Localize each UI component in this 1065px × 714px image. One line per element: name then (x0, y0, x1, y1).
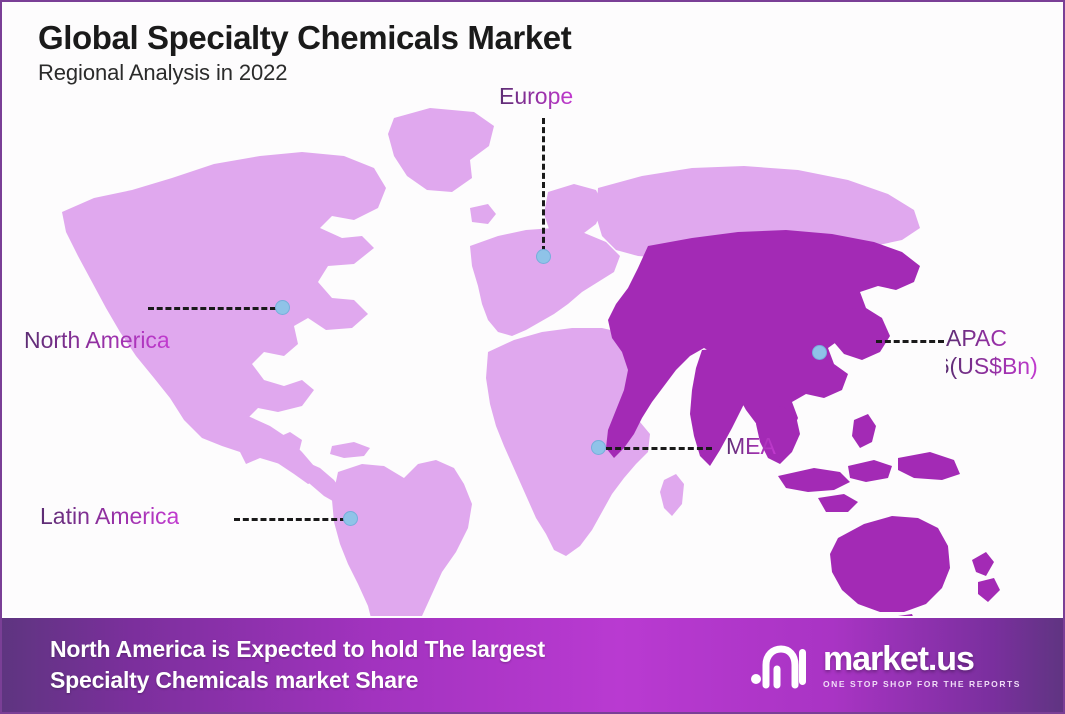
banner-message: North America is Expected to hold The la… (50, 634, 545, 697)
region-australia (830, 516, 950, 612)
map-marker-mea (591, 440, 606, 455)
page-title: Global Specialty Chemicals Market (38, 20, 571, 57)
banner-line-1: North America is Expected to hold The la… (50, 634, 545, 665)
leader-line-north-america (148, 307, 276, 310)
region-label-north-america: North America (24, 326, 170, 354)
market-us-logo-icon (749, 639, 811, 691)
region-label-apac-name: APAC (946, 325, 1007, 351)
region-newzealand (972, 552, 994, 576)
page-subtitle: Regional Analysis in 2022 (38, 60, 571, 86)
region-iceland (470, 204, 496, 224)
map-regions-apac (606, 230, 1000, 620)
region-philippines (852, 414, 876, 448)
map-marker-north-america (275, 300, 290, 315)
leader-line-mea (606, 447, 712, 450)
region-caribbean (330, 442, 370, 458)
region-scandinavia (544, 184, 604, 242)
region-madagascar (660, 474, 684, 516)
region-south-america (332, 460, 472, 620)
region-label-latin-america: Latin America (40, 502, 179, 530)
region-europe (470, 228, 620, 336)
region-greenland (388, 108, 494, 192)
region-label-apac: APAC 476.6(US$Bn) (946, 324, 1038, 380)
leader-line-apac (876, 340, 944, 343)
bottom-banner: North America is Expected to hold The la… (2, 616, 1065, 712)
logo-name: market.us (823, 642, 1021, 676)
map-marker-apac (812, 345, 827, 360)
header-block: Global Specialty Chemicals Market Region… (38, 20, 571, 86)
leader-line-europe (542, 118, 545, 252)
logo-tagline: ONE STOP SHOP FOR THE REPORTS (823, 679, 1021, 689)
region-label-mea: MEA (726, 432, 776, 460)
leader-line-latin-america (234, 518, 346, 521)
map-marker-latin-america (343, 511, 358, 526)
region-indonesia-2 (848, 460, 892, 482)
region-label-europe: Europe (499, 82, 573, 110)
region-indonesia-3 (818, 494, 858, 512)
logo-text-block: market.us ONE STOP SHOP FOR THE REPORTS (823, 642, 1021, 689)
infographic-frame: Global Specialty Chemicals Market Region… (0, 0, 1065, 714)
region-china-east (826, 308, 890, 360)
map-marker-europe (536, 249, 551, 264)
region-indonesia-1 (778, 468, 850, 492)
brand-logo[interactable]: market.us ONE STOP SHOP FOR THE REPORTS (749, 639, 1039, 691)
region-newzealand-2 (978, 578, 1000, 602)
region-value-apac: 476.6(US$Bn) (892, 352, 1038, 380)
region-newguinea (898, 452, 960, 480)
banner-line-2: Specialty Chemicals market Share (50, 665, 545, 696)
